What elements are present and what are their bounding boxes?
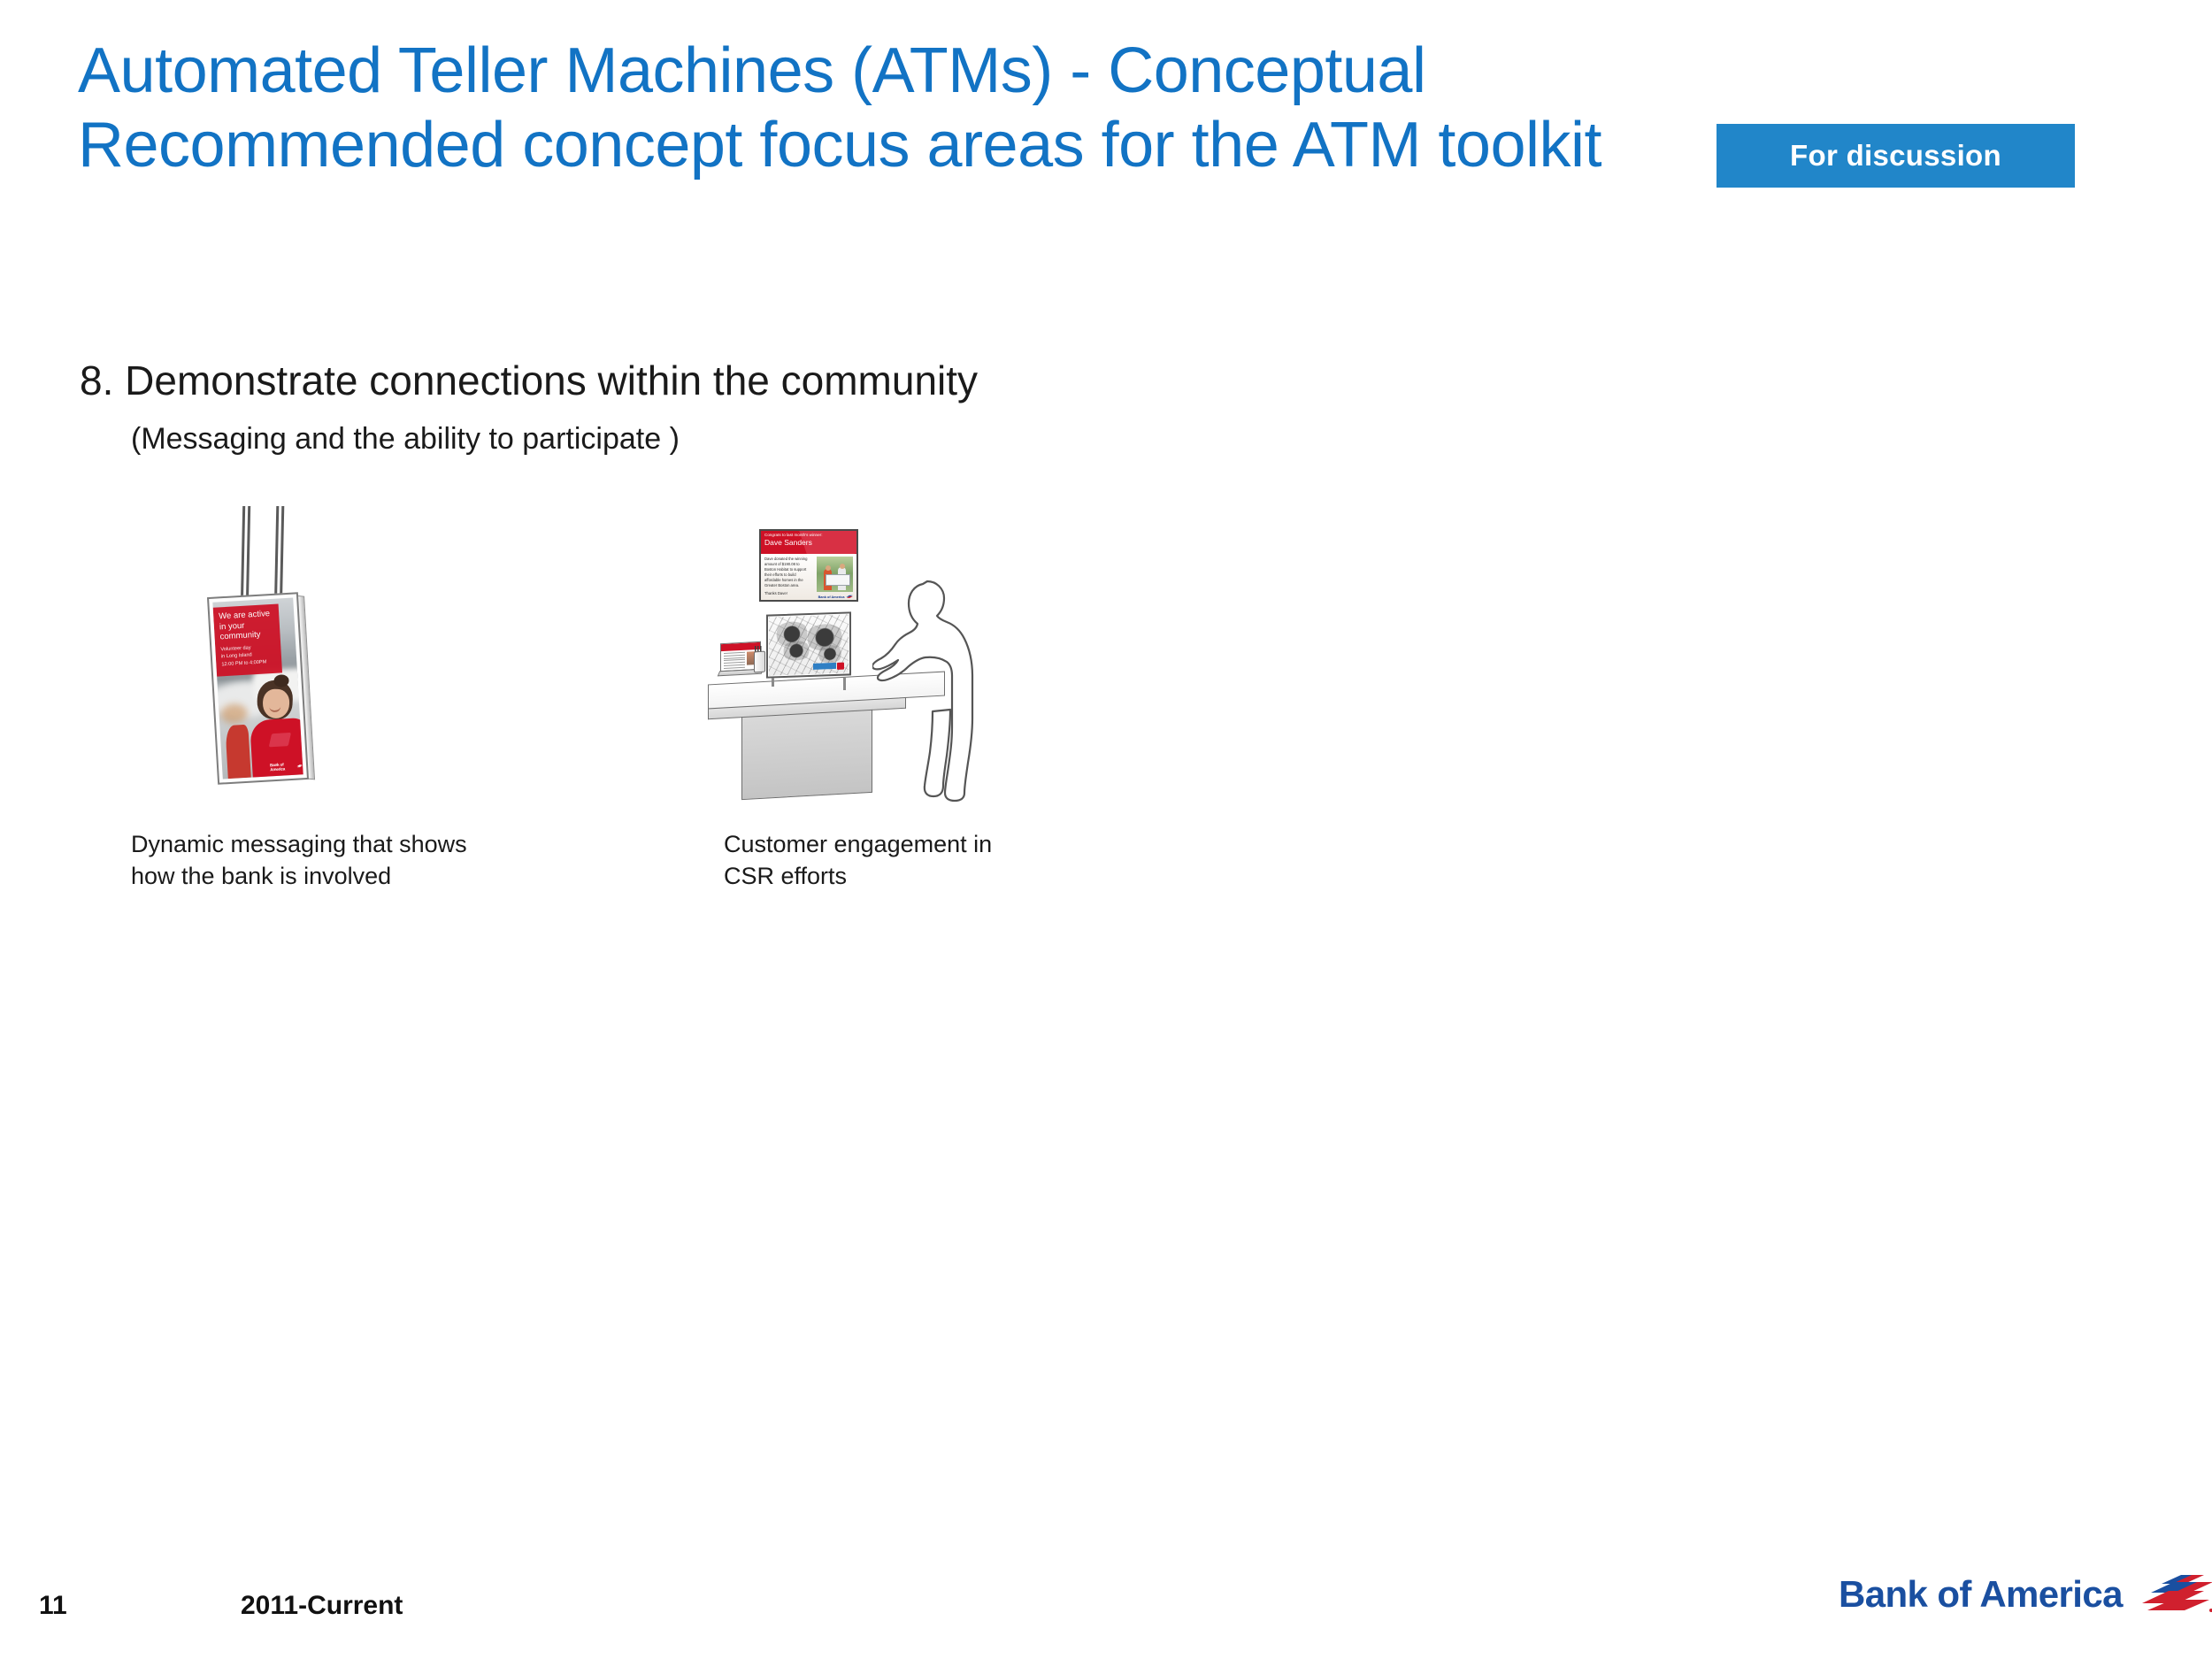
digital-sign-screen: We are active in your community Voluntee… bbox=[212, 598, 303, 780]
presentation-slide: Automated Teller Machines (ATMs) - Conce… bbox=[0, 0, 2212, 1659]
slide-period-label: 2011-Current bbox=[241, 1591, 403, 1621]
kiosk-pen-cup bbox=[754, 651, 765, 673]
bank-of-america-logo: Bank of America bbox=[1839, 1571, 2212, 1617]
digital-sign-detail: Volunteer day in Long Island 12:00 PM to… bbox=[220, 642, 277, 668]
digital-sign-headline: We are active in your community bbox=[219, 609, 276, 642]
poster-closing-text: Thanks Dave! bbox=[764, 591, 814, 595]
poster-body-area: Dave donated the winning amount of $190.… bbox=[761, 554, 856, 602]
poster-photo-person-head bbox=[826, 565, 831, 571]
kiosk-map-pin-cluster bbox=[817, 645, 843, 664]
figure-2-caption: Customer engagement in CSR efforts bbox=[724, 829, 992, 893]
digital-sign-housing: We are active in your community Voluntee… bbox=[207, 592, 309, 785]
boa-flag-icon bbox=[296, 764, 303, 768]
slide-page-number: 11 bbox=[39, 1591, 67, 1621]
suspension-cable-icon bbox=[246, 506, 250, 608]
volunteer-arm bbox=[225, 725, 250, 779]
poster-photo-giant-check bbox=[826, 574, 850, 586]
kiosk-counter-base bbox=[741, 708, 872, 800]
poster-header: Congrats to last month's winner: Dave Sa… bbox=[761, 531, 856, 554]
poster-boa-logo: Bank of America bbox=[818, 595, 853, 599]
background-blur-shape bbox=[220, 703, 248, 725]
kiosk-screen-leg bbox=[843, 678, 846, 690]
kiosk-map-label-tag bbox=[813, 663, 836, 670]
digital-sign-boa-logo: Bank of America bbox=[270, 761, 303, 772]
customer-silhouette bbox=[872, 577, 982, 805]
digital-sign-message-panel: We are active in your community Voluntee… bbox=[213, 604, 282, 677]
poster-photo-person-head bbox=[840, 564, 845, 569]
volunteer-shirt-logo bbox=[269, 733, 291, 747]
boa-flag-icon bbox=[2135, 1571, 2212, 1617]
digital-sign-bezel: We are active in your community Voluntee… bbox=[207, 592, 309, 785]
kiosk-map-brand-mark bbox=[837, 663, 844, 670]
slide-title-block: Automated Teller Machines (ATMs) - Conce… bbox=[78, 34, 1759, 182]
bank-of-america-wordmark: Bank of America bbox=[1839, 1573, 2123, 1616]
poster-winner-name: Dave Sanders bbox=[764, 538, 853, 548]
kiosk-touchscreen bbox=[766, 611, 851, 678]
kiosk-map-view bbox=[769, 614, 849, 675]
slide-title-line-1: Automated Teller Machines (ATMs) - Conce… bbox=[78, 34, 1759, 108]
figure-1-caption: Dynamic messaging that shows how the ban… bbox=[131, 829, 467, 893]
kiosk-laptop-text-lines bbox=[724, 652, 745, 671]
figure-csr-engagement-kiosk: Congrats to last month's winner: Dave Sa… bbox=[699, 522, 1026, 814]
poster-body-text: Dave donated the winning amount of $190.… bbox=[764, 557, 814, 588]
digital-sign-boa-wordmark: Bank of America bbox=[270, 762, 296, 772]
for-discussion-badge: For discussion bbox=[1717, 124, 2075, 188]
figure-hanging-digital-sign: We are active in your community Voluntee… bbox=[188, 506, 418, 807]
boa-flag-icon bbox=[846, 595, 853, 599]
customer-silhouette-icon bbox=[872, 577, 982, 805]
kiosk-map-pin-cluster bbox=[781, 641, 811, 661]
csr-winner-poster: Congrats to last month's winner: Dave Sa… bbox=[759, 529, 858, 602]
slide-title-line-2: Recommended concept focus areas for the … bbox=[78, 108, 1759, 182]
poster-boa-wordmark: Bank of America bbox=[818, 595, 845, 599]
for-discussion-badge-label: For discussion bbox=[1790, 139, 2001, 173]
section-subheading: (Messaging and the ability to participat… bbox=[131, 422, 680, 457]
section-heading: 8. Demonstrate connections within the co… bbox=[80, 357, 978, 404]
poster-photo bbox=[817, 557, 853, 592]
suspension-cable-icon bbox=[241, 506, 245, 608]
